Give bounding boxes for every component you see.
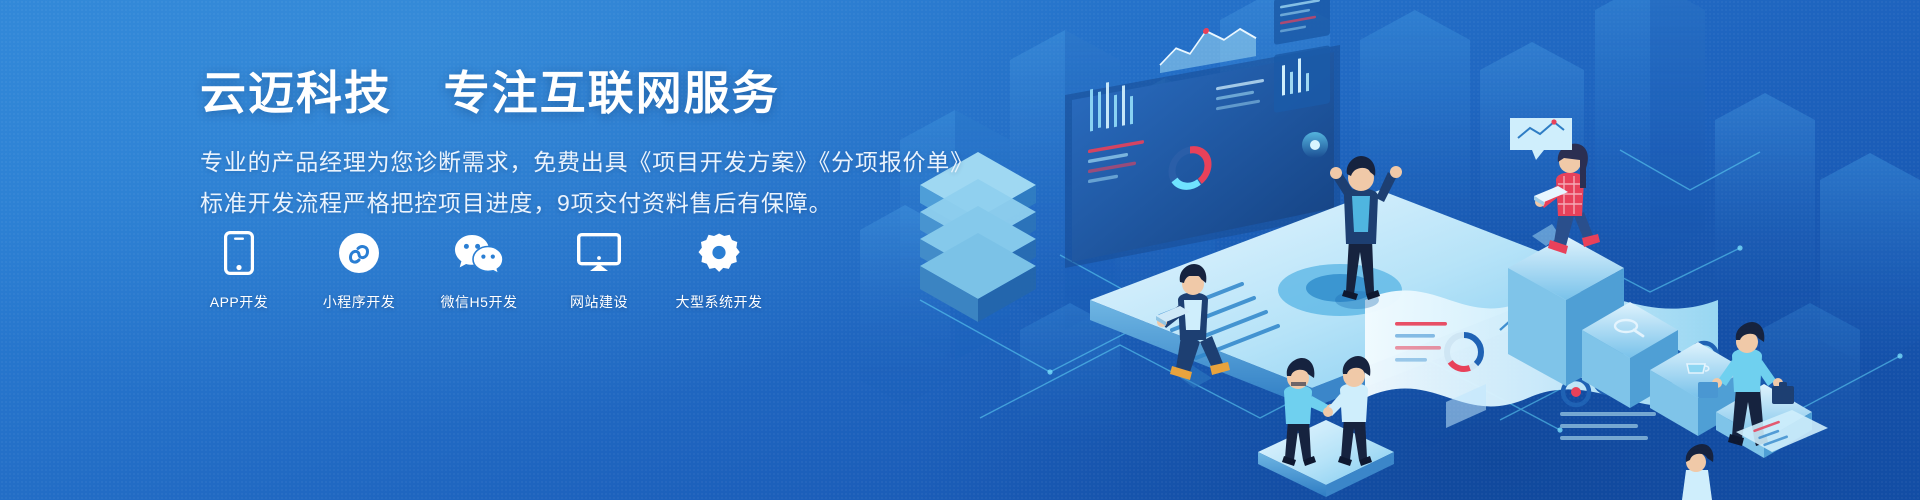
bottom-person-partial [1682,444,1713,500]
service-item-mini-program[interactable]: 小程序开发 [320,230,398,312]
mobile-phone-icon [224,230,254,276]
title-part-2: 专注互联网服务 [444,67,780,119]
subtitle-line-1: 专业的产品经理为您诊断需求，免费出具《项目开发方案》《分项报价单》 [200,142,974,183]
promo-banner: 云迈科技 专注互联网服务 专业的产品经理为您诊断需求，免费出具《项目开发方案》《… [0,0,1920,500]
service-item-large-system[interactable]: 大型系统开发 [680,230,758,312]
service-label: 小程序开发 [323,292,396,312]
service-label: 大型系统开发 [676,292,763,312]
banner-subtitle: 专业的产品经理为您诊断需求，免费出具《项目开发方案》《分项报价单》 标准开发流程… [200,142,974,224]
service-label: 微信H5开发 [441,292,518,312]
service-label: 网站建设 [570,292,628,312]
subtitle-line-2: 标准开发流程严格把控项目进度，9项交付资料售后有保障。 [200,183,974,224]
monitor-icon [577,230,621,276]
isometric-tech-illustration [860,0,1920,500]
page-title: 云迈科技 专注互联网服务 [200,66,974,120]
service-icon-list: APP开发 小程序开发 [200,230,758,312]
service-item-wechat-h5[interactable]: 微信H5开发 [440,230,518,312]
banner-copy: 云迈科技 专注互联网服务 专业的产品经理为您诊断需求，免费出具《项目开发方案》《… [200,66,974,224]
title-part-1: 云迈科技 [200,67,392,119]
service-label: APP开发 [210,292,269,312]
wechat-icon [455,230,503,276]
service-item-website[interactable]: 网站建设 [560,230,638,312]
mini-program-icon [338,230,380,276]
gear-icon [698,230,740,276]
service-item-app[interactable]: APP开发 [200,230,278,312]
